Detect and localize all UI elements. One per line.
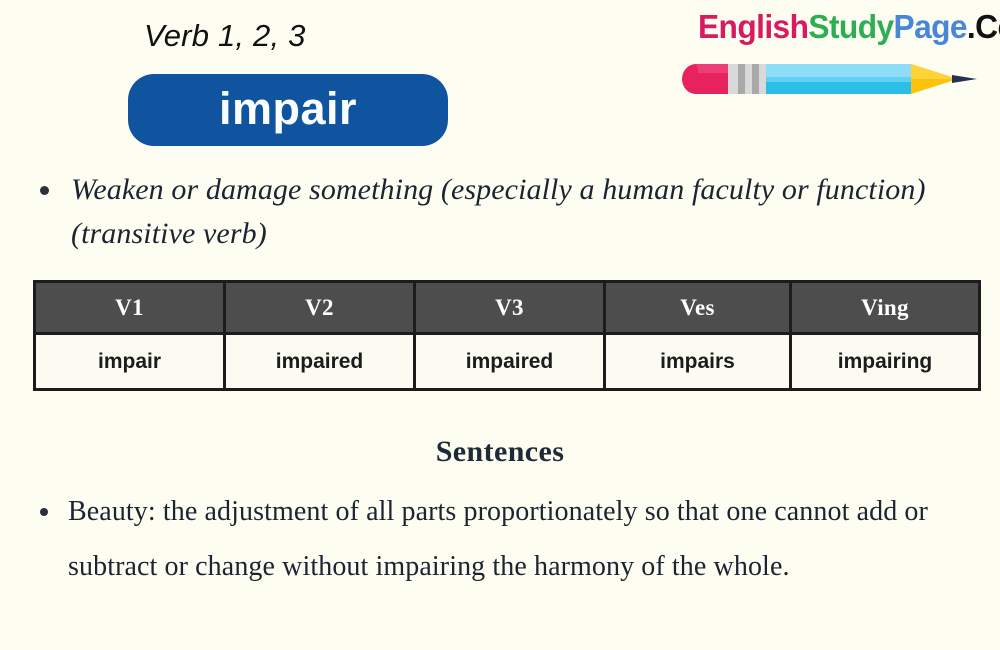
table-row: impair impaired impaired impairs impairi…: [35, 334, 980, 390]
verb-forms-table: V1 V2 V3 Ves Ving impair impaired impair…: [33, 280, 981, 391]
table-cell-v2: impaired: [225, 334, 415, 390]
table-cell-ving: impairing: [791, 334, 980, 390]
pencil-icon: [682, 58, 980, 100]
sentences-heading: Sentences: [0, 435, 1000, 469]
table-header-ving: Ving: [791, 282, 980, 334]
logo-part-study: Study: [808, 8, 893, 45]
sentence-bullet-item: Beauty: the adjustment of all parts prop…: [40, 484, 985, 594]
site-logo-text: EnglishStudyPage.Com: [698, 8, 986, 46]
table-cell-v3: impaired: [415, 334, 605, 390]
table-header-v1: V1: [35, 282, 225, 334]
logo-part-page: Page: [894, 8, 967, 45]
table-header-v2: V2: [225, 282, 415, 334]
bullet-dot-icon: [40, 186, 49, 195]
bullet-dot-icon: [40, 508, 48, 516]
page-header: Verb 1, 2, 3 impair EnglishStudyPage.Com: [0, 0, 1000, 165]
word-badge: impair: [128, 74, 448, 146]
table-header-row: V1 V2 V3 Ves Ving: [35, 282, 980, 334]
sentence-text: Beauty: the adjustment of all parts prop…: [68, 484, 985, 594]
definition-bullet-item: Weaken or damage something (especially a…: [40, 168, 980, 256]
sentences-block: Beauty: the adjustment of all parts prop…: [40, 484, 985, 594]
table-header-v3: V3: [415, 282, 605, 334]
table-cell-ves: impairs: [605, 334, 791, 390]
logo-part-com: .Com: [967, 8, 1000, 45]
table-cell-v1: impair: [35, 334, 225, 390]
definition-text: Weaken or damage something (especially a…: [71, 168, 980, 256]
logo-part-english: English: [698, 8, 808, 45]
word-badge-label: impair: [219, 86, 357, 134]
table-header-ves: Ves: [605, 282, 791, 334]
verb-forms-label: Verb 1, 2, 3: [144, 18, 306, 54]
site-logo[interactable]: EnglishStudyPage.Com: [686, 8, 986, 100]
definition-block: Weaken or damage something (especially a…: [40, 168, 980, 256]
